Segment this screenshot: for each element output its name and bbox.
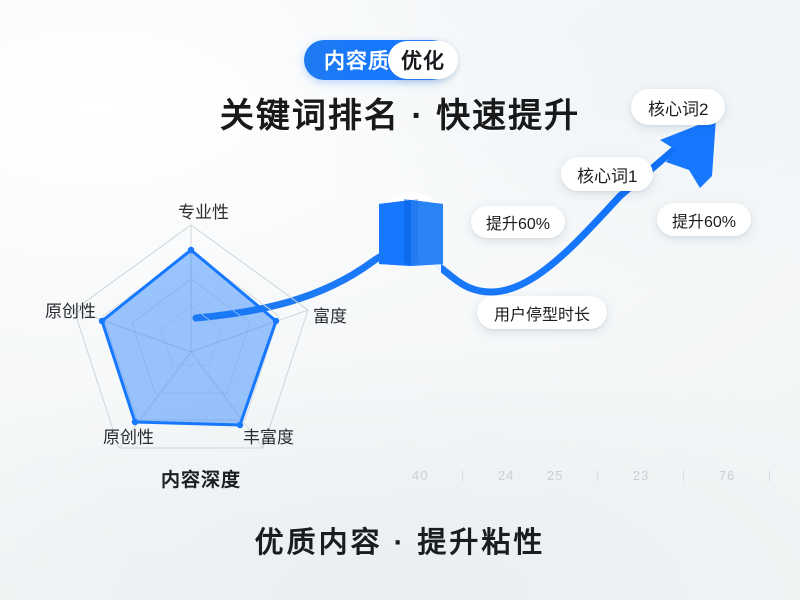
callout-uplift-left[interactable]: 提升60% [471,206,565,238]
callout-keyword-1[interactable]: 核心词1 [561,157,653,191]
badge-tag-label: 优化 [388,41,458,79]
quality-badge[interactable]: 内容质量 优化 [304,40,452,80]
poster-canvas: 专业性 富度 丰富度 原创性 原创性 [0,0,800,600]
callout-keyword-2[interactable]: 核心词2 [631,89,725,125]
page-footer-title: 优质内容 · 提升粘性 [0,519,800,561]
content-depth-label: 内容深度 [161,465,241,492]
callout-dwell-time[interactable]: 用户停型时长 [477,296,607,329]
callout-uplift-right[interactable]: 提升60% [657,203,751,236]
